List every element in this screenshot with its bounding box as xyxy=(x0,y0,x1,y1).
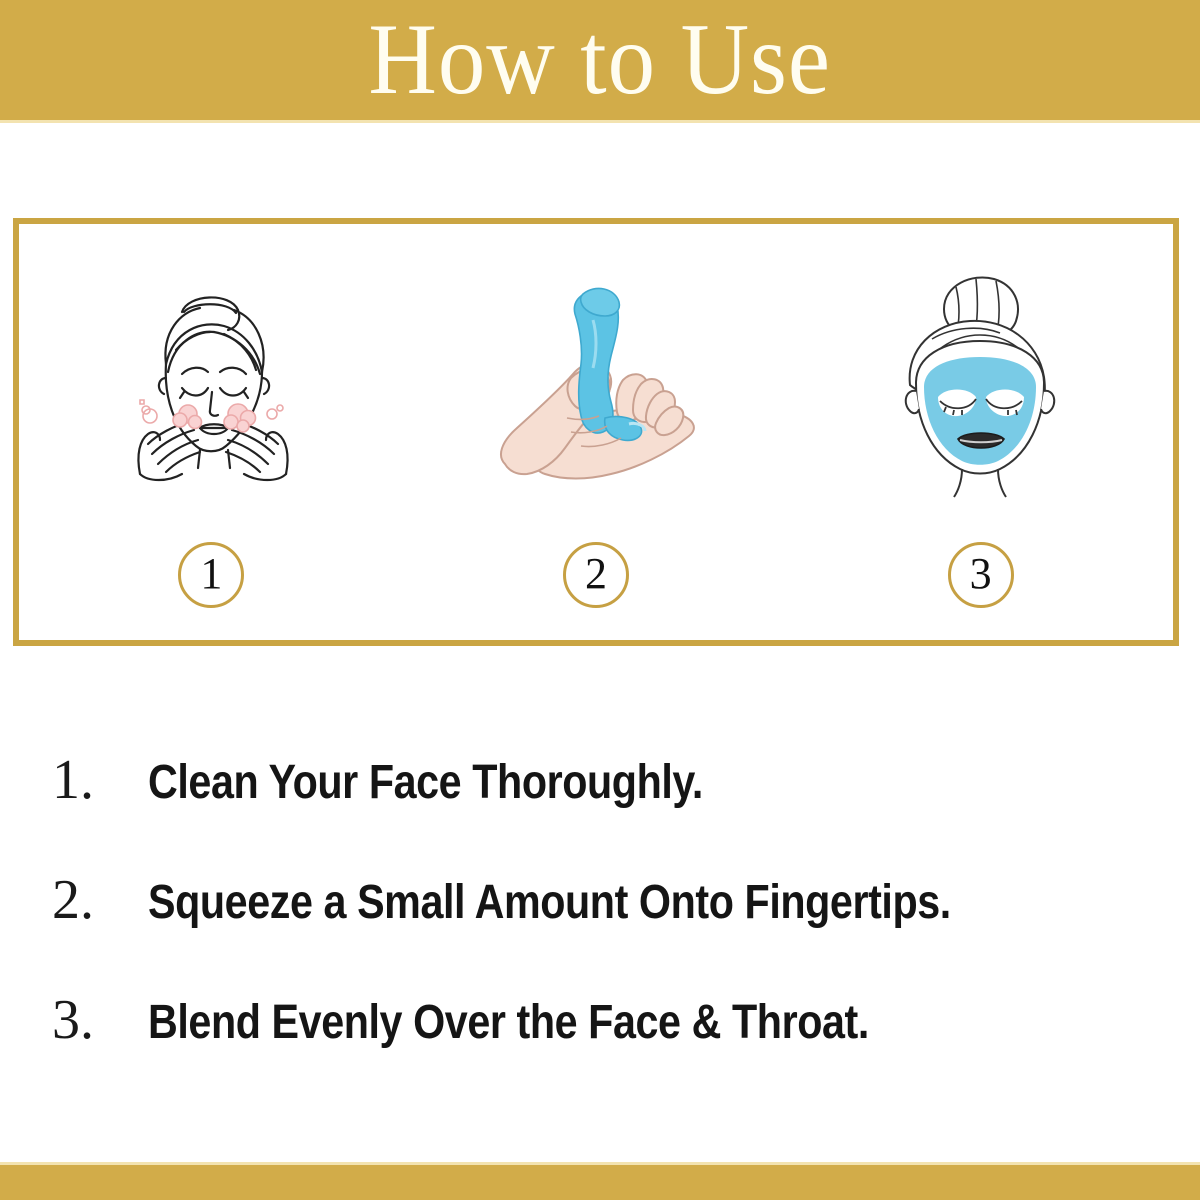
step-badge-1-label: 1 xyxy=(200,552,222,596)
woman-washing-face-icon xyxy=(96,268,326,498)
instruction-text-2: Squeeze a Small Amount Onto Fingertips. xyxy=(148,879,951,927)
step-badge-2-label: 2 xyxy=(585,552,607,596)
instruction-item-3: 3. Blend Evenly Over the Face & Throat. xyxy=(52,992,1152,1112)
instruction-text-1: Clean Your Face Thoroughly. xyxy=(148,759,703,807)
step-badge-3: 3 xyxy=(948,542,1014,608)
illustration-step-2: 2 xyxy=(404,224,789,640)
illustration-step-3: 3 xyxy=(788,224,1173,640)
step-badge-2: 2 xyxy=(563,542,629,608)
hands-squeezing-tube-icon xyxy=(471,268,721,498)
instruction-text-3: Blend Evenly Over the Face & Throat. xyxy=(148,999,869,1047)
illustration-step-1: 1 xyxy=(19,224,404,640)
illustration-row: 1 xyxy=(19,224,1173,640)
face-with-blue-mask-icon xyxy=(876,268,1086,498)
instruction-item-2: 2. Squeeze a Small Amount Onto Fingertip… xyxy=(52,872,1152,992)
illustration-panel: 1 xyxy=(13,218,1179,646)
header-band: How to Use xyxy=(0,0,1200,123)
instruction-number-1: 1. xyxy=(52,752,148,808)
instructions-list: 1. Clean Your Face Thoroughly. 2. Squeez… xyxy=(52,752,1152,1112)
instruction-number-3: 3. xyxy=(52,992,148,1048)
page-title: How to Use xyxy=(369,9,831,111)
instruction-item-1: 1. Clean Your Face Thoroughly. xyxy=(52,752,1152,872)
instruction-number-2: 2. xyxy=(52,872,148,928)
step-badge-3-label: 3 xyxy=(970,552,992,596)
footer-band xyxy=(0,1162,1200,1200)
step-badge-1: 1 xyxy=(178,542,244,608)
